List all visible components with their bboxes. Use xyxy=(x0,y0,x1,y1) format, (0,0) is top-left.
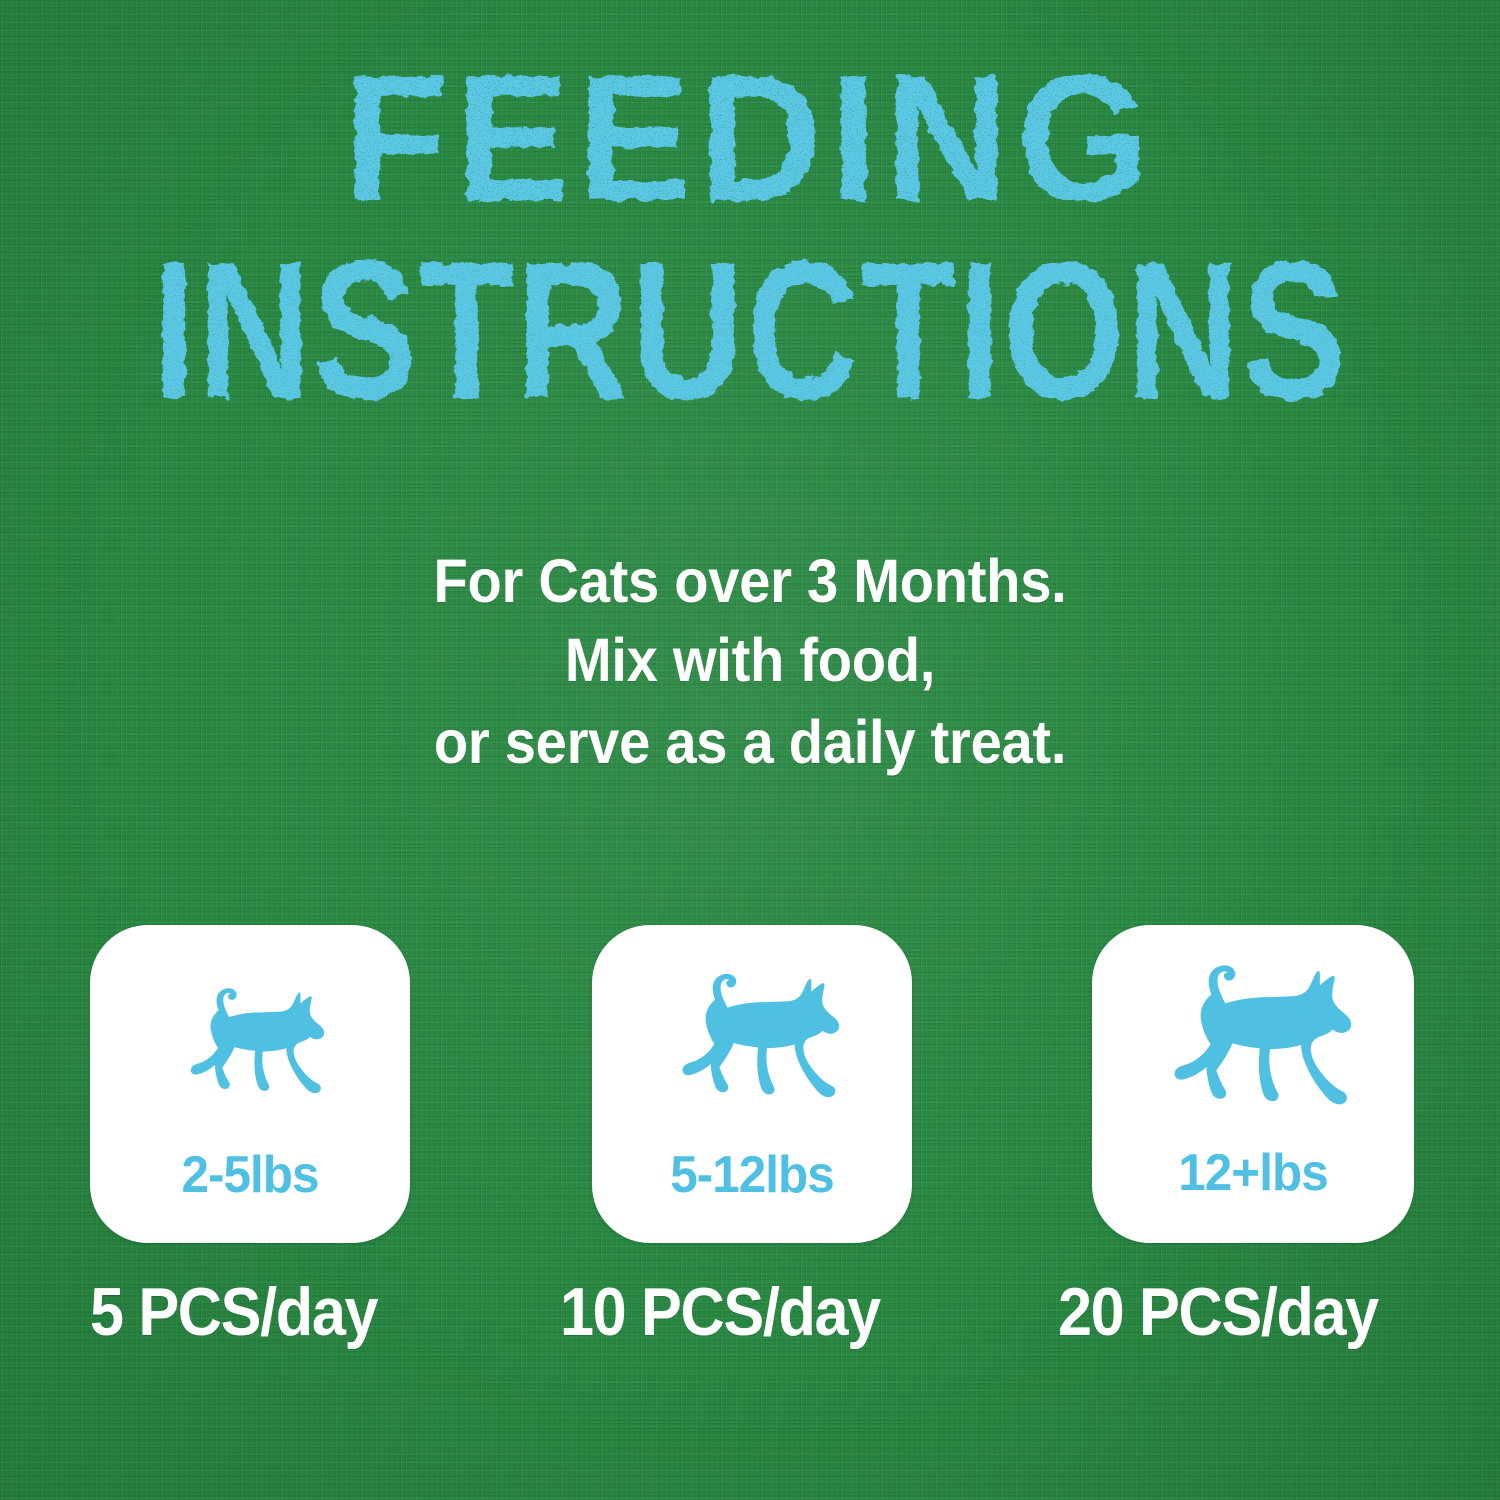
subtext-line-2: Mix with food, xyxy=(60,619,1440,701)
weight-card-medium[interactable]: 5-12lbs xyxy=(592,925,912,1243)
dose-label-large: 20 PCS/day xyxy=(1058,1272,1378,1352)
cat-icon-container-medium xyxy=(592,933,912,1145)
weight-card-small[interactable]: 2-5lbs xyxy=(90,925,410,1243)
subtext-line-1: For Cats over 3 Months. xyxy=(60,543,1440,619)
cat-silhouette-icon xyxy=(1147,961,1359,1116)
weight-label-medium: 5-12lbs xyxy=(600,1149,904,1201)
headline-line-1: FEEDING xyxy=(0,58,1500,233)
cat-icon-container-small xyxy=(90,943,410,1143)
subtext-line-3: or serve as a daily treat. xyxy=(60,701,1440,783)
weight-label-small: 2-5lbs xyxy=(98,1149,402,1201)
weight-card-large[interactable]: 12+lbs xyxy=(1092,925,1414,1243)
dose-label-medium: 10 PCS/day xyxy=(560,1272,880,1352)
headline-text-instructions: INSTRUCTIONS xyxy=(152,220,1347,440)
cat-silhouette-icon xyxy=(170,985,330,1102)
subtext-block: For Cats over 3 Months. Mix with food, o… xyxy=(0,543,1500,783)
dose-label-row: 5 PCS/day 10 PCS/day 20 PCS/day xyxy=(0,1272,1500,1382)
headline-line-2: INSTRUCTIONS xyxy=(0,238,1500,438)
weight-label-large: 12+lbs xyxy=(1100,1147,1406,1199)
cat-icon-container-large xyxy=(1092,927,1414,1149)
dose-label-small: 5 PCS/day xyxy=(90,1272,377,1352)
headline-text-feeding: FEEDING xyxy=(343,38,1156,239)
feeding-instructions-poster: FEEDING INSTRUCTIONS For Cats over 3 Mon… xyxy=(0,0,1500,1500)
weight-card-row: 2-5lbs 5-12lbs 12+lbs xyxy=(0,925,1500,1245)
cat-silhouette-icon xyxy=(658,970,846,1107)
